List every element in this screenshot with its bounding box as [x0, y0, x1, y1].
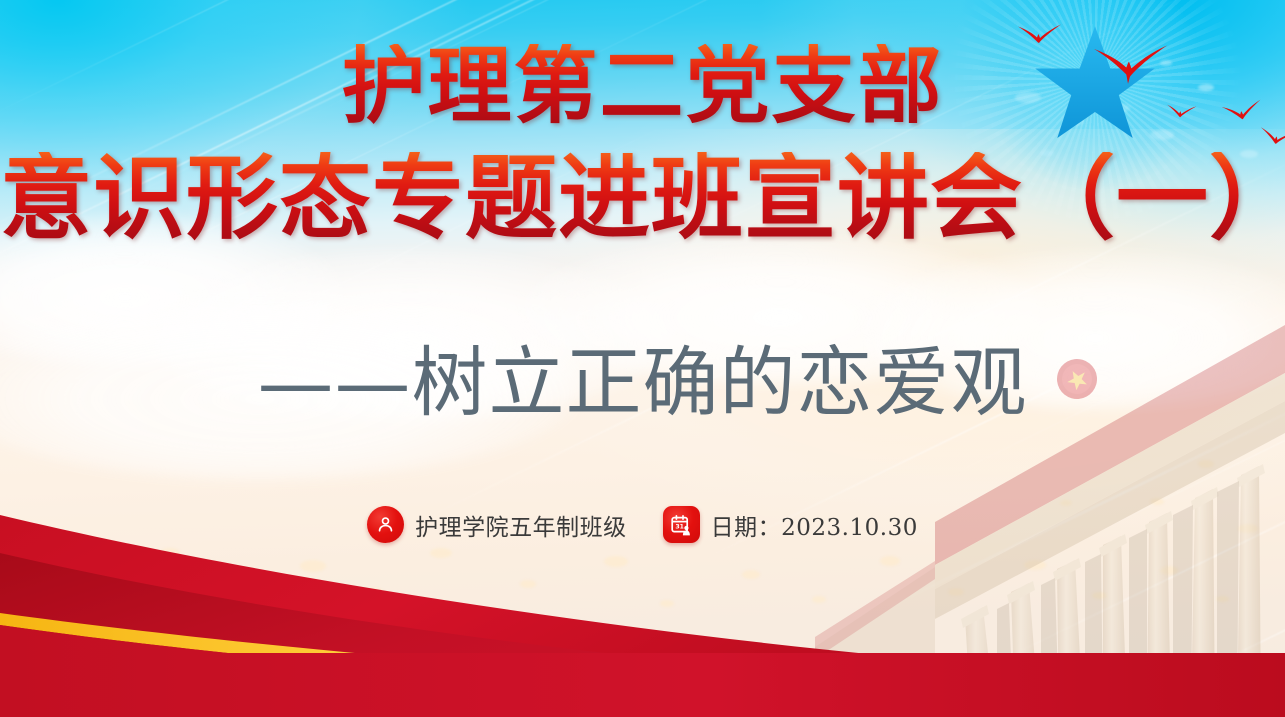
- calendar-icon: 31: [663, 506, 700, 543]
- meta-item-date: 31 日期：2023.10.30: [663, 506, 918, 543]
- calendar-day-number: 31: [676, 523, 685, 530]
- page-title-line-1: 护理第二党支部: [0, 44, 1285, 128]
- page-title-line-2: 意识形态专题进班宣讲会（一）: [0, 152, 1285, 244]
- meta-date-label: 日期：2023.10.30: [711, 508, 918, 542]
- meta-class-label: 护理学院五年制班级: [415, 508, 627, 542]
- slide-content: 护理第二党支部 意识形态专题进班宣讲会（一） ——树立正确的恋爱观 护理学院五年…: [0, 0, 1285, 717]
- meta-item-class: 护理学院五年制班级: [367, 506, 627, 543]
- user-icon: [367, 506, 404, 543]
- page-subtitle: ——树立正确的恋爱观: [0, 345, 1285, 421]
- presentation-title-slide: 护理第二党支部 意识形态专题进班宣讲会（一） ——树立正确的恋爱观 护理学院五年…: [0, 0, 1285, 717]
- slide-meta-row: 护理学院五年制班级 31 日期：2: [0, 506, 1285, 543]
